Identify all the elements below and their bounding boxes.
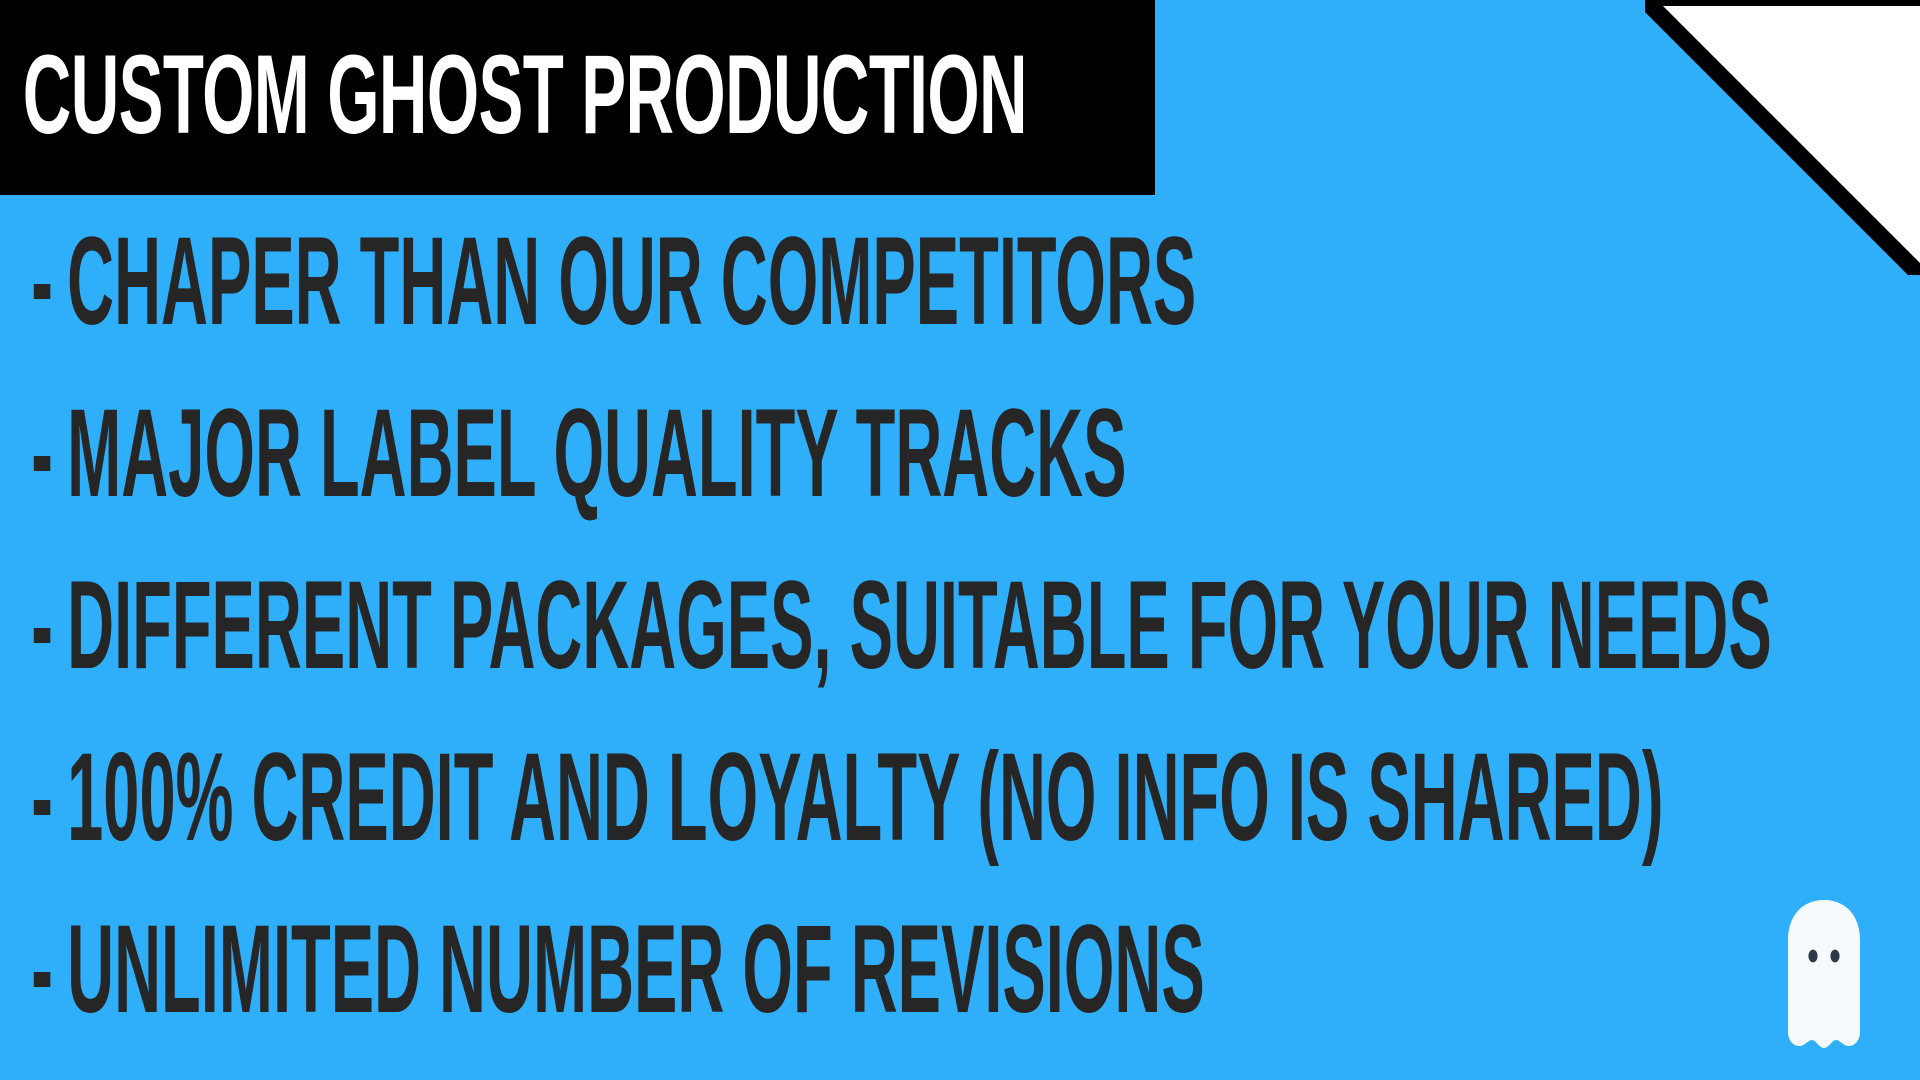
feature-bullet-list: -CHAPER THAN OUR COMPETITORS -MAJOR LABE…	[0, 195, 1920, 1055]
bullet-dash: -	[31, 212, 53, 351]
bullet-dash: -	[31, 384, 53, 523]
bullet-text: UNLIMITED NUMBER OF REVISIONS	[67, 900, 1205, 1039]
bullet-text: 100% CREDIT AND LOYALTY (NO INFO IS SHAR…	[67, 728, 1663, 867]
bullet-text: CHAPER THAN OUR COMPETITORS	[67, 212, 1196, 351]
list-item: -MAJOR LABEL QUALITY TRACKS	[0, 367, 1920, 539]
page-title: CUSTOM GHOST PRODUCTION	[0, 39, 1027, 151]
ghost-eye-left	[1808, 950, 1817, 963]
bullet-text: DIFFERENT PACKAGES, SUITABLE FOR YOUR NE…	[67, 556, 1772, 695]
list-item: -CHAPER THAN OUR COMPETITORS	[0, 195, 1920, 367]
bullet-dash: -	[31, 556, 53, 695]
bullet-dash: -	[31, 728, 53, 867]
ghost-eye-right	[1830, 950, 1839, 963]
ghost-icon	[1782, 898, 1866, 1050]
ghost-body	[1788, 900, 1860, 1048]
bullet-dash: -	[31, 900, 53, 1039]
list-item: -UNLIMITED NUMBER OF REVISIONS	[0, 883, 1920, 1055]
bullet-text: MAJOR LABEL QUALITY TRACKS	[67, 384, 1126, 523]
title-bar: CUSTOM GHOST PRODUCTION	[0, 0, 1155, 195]
list-item: -DIFFERENT PACKAGES, SUITABLE FOR YOUR N…	[0, 539, 1920, 711]
list-item: -100% CREDIT AND LOYALTY (NO INFO IS SHA…	[0, 711, 1920, 883]
